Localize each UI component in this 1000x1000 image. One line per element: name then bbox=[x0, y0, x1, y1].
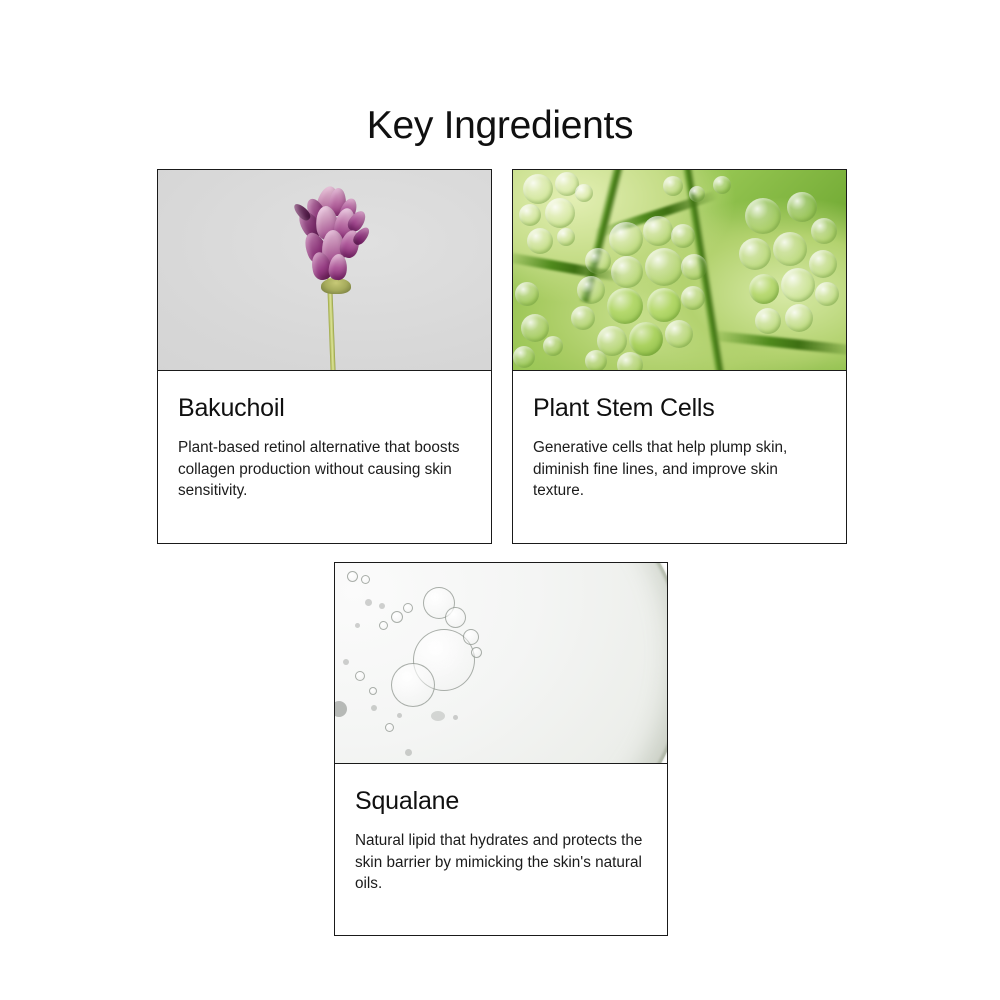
gel-speck bbox=[405, 749, 412, 756]
ingredient-card-bakuchoil[interactable]: Bakuchoil Plant-based retinol alternativ… bbox=[157, 169, 492, 544]
cell-vesicle bbox=[665, 320, 693, 348]
cell-vesicle bbox=[811, 218, 837, 244]
gel-bubble bbox=[471, 647, 482, 658]
card-description: Natural lipid that hydrates and protects… bbox=[355, 830, 645, 895]
cell-vesicle bbox=[681, 254, 707, 280]
gel-bubble bbox=[355, 671, 365, 681]
card-description: Generative cells that help plump skin, d… bbox=[533, 437, 823, 502]
cell-vesicle bbox=[513, 346, 535, 368]
cell-vesicle bbox=[749, 274, 779, 304]
gel-droplet bbox=[335, 563, 667, 764]
cell-vesicle bbox=[545, 198, 575, 228]
cell-vesicle bbox=[755, 308, 781, 334]
ingredient-card-squalane[interactable]: Squalane Natural lipid that hydrates and… bbox=[334, 562, 668, 936]
gel-bubble bbox=[463, 629, 479, 645]
ingredient-card-plant-stem-cells[interactable]: Plant Stem Cells Generative cells that h… bbox=[512, 169, 847, 544]
cell-vesicle bbox=[643, 216, 673, 246]
cell-vesicle bbox=[681, 286, 705, 310]
cell-vesicle bbox=[523, 174, 553, 204]
cell-vesicle bbox=[745, 198, 781, 234]
gel-speck bbox=[431, 711, 445, 721]
cell-vesicle bbox=[815, 282, 839, 306]
flower-calyx bbox=[321, 278, 351, 294]
cell-vesicle bbox=[575, 184, 593, 202]
cell-vesicle bbox=[671, 224, 695, 248]
cell-vesicle bbox=[611, 256, 643, 288]
gel-bubble bbox=[445, 607, 466, 628]
cell-vesicle bbox=[609, 222, 643, 256]
flower-head bbox=[288, 186, 384, 290]
key-ingredients-page: Key Ingredients bbox=[0, 0, 1000, 1000]
gel-speck bbox=[343, 659, 349, 665]
cell-vesicle bbox=[557, 228, 575, 246]
gel-speck bbox=[355, 623, 360, 628]
gel-bubble bbox=[403, 603, 413, 613]
cell-vesicle bbox=[781, 268, 815, 302]
gel-bubble bbox=[385, 723, 394, 732]
gel-bubble bbox=[379, 621, 388, 630]
gel-bubble bbox=[347, 571, 358, 582]
gel-bubble bbox=[369, 687, 377, 695]
plant-stem-cells-microscopy-photo bbox=[513, 170, 846, 371]
card-body: Plant Stem Cells Generative cells that h… bbox=[513, 371, 846, 502]
cell-vesicle bbox=[571, 306, 595, 330]
cell-vesicle bbox=[515, 282, 539, 306]
cell-vesicle bbox=[647, 288, 681, 322]
squalane-gel-droplet-photo bbox=[335, 563, 667, 764]
cell-vesicle bbox=[521, 314, 549, 342]
cell-vesicle bbox=[543, 336, 563, 356]
gel-bubble bbox=[391, 611, 403, 623]
cell-vesicle bbox=[607, 288, 643, 324]
cell-vesicle bbox=[739, 238, 771, 270]
card-description: Plant-based retinol alternative that boo… bbox=[178, 437, 468, 502]
card-body: Bakuchoil Plant-based retinol alternativ… bbox=[158, 371, 491, 502]
cell-vesicle bbox=[585, 350, 607, 371]
gel-speck bbox=[453, 715, 458, 720]
cell-vesicle bbox=[785, 304, 813, 332]
gel-bubble bbox=[361, 575, 370, 584]
card-heading: Bakuchoil bbox=[178, 393, 471, 423]
cell-vesicle bbox=[645, 248, 683, 286]
cell-vesicle bbox=[585, 248, 611, 274]
page-title: Key Ingredients bbox=[0, 102, 1000, 150]
cell-vesicle bbox=[689, 186, 705, 202]
bakuchoil-flower-photo bbox=[158, 170, 491, 371]
cell-vesicle bbox=[663, 176, 683, 196]
cell-vesicle bbox=[787, 192, 817, 222]
gel-speck bbox=[371, 705, 377, 711]
cell-vesicle bbox=[629, 322, 663, 356]
cell-vesicle bbox=[527, 228, 553, 254]
card-body: Squalane Natural lipid that hydrates and… bbox=[335, 764, 667, 895]
cell-vesicle bbox=[713, 176, 731, 194]
cell-vesicle bbox=[617, 352, 643, 371]
cell-vesicle bbox=[519, 204, 541, 226]
cell-vesicle bbox=[773, 232, 807, 266]
card-heading: Squalane bbox=[355, 786, 647, 816]
gel-bubble bbox=[391, 663, 435, 707]
cell-vesicle bbox=[809, 250, 837, 278]
gel-speck bbox=[397, 713, 402, 718]
gel-speck bbox=[365, 599, 372, 606]
gel-speck bbox=[379, 603, 385, 609]
card-heading: Plant Stem Cells bbox=[533, 393, 826, 423]
cell-vesicle bbox=[577, 276, 605, 304]
